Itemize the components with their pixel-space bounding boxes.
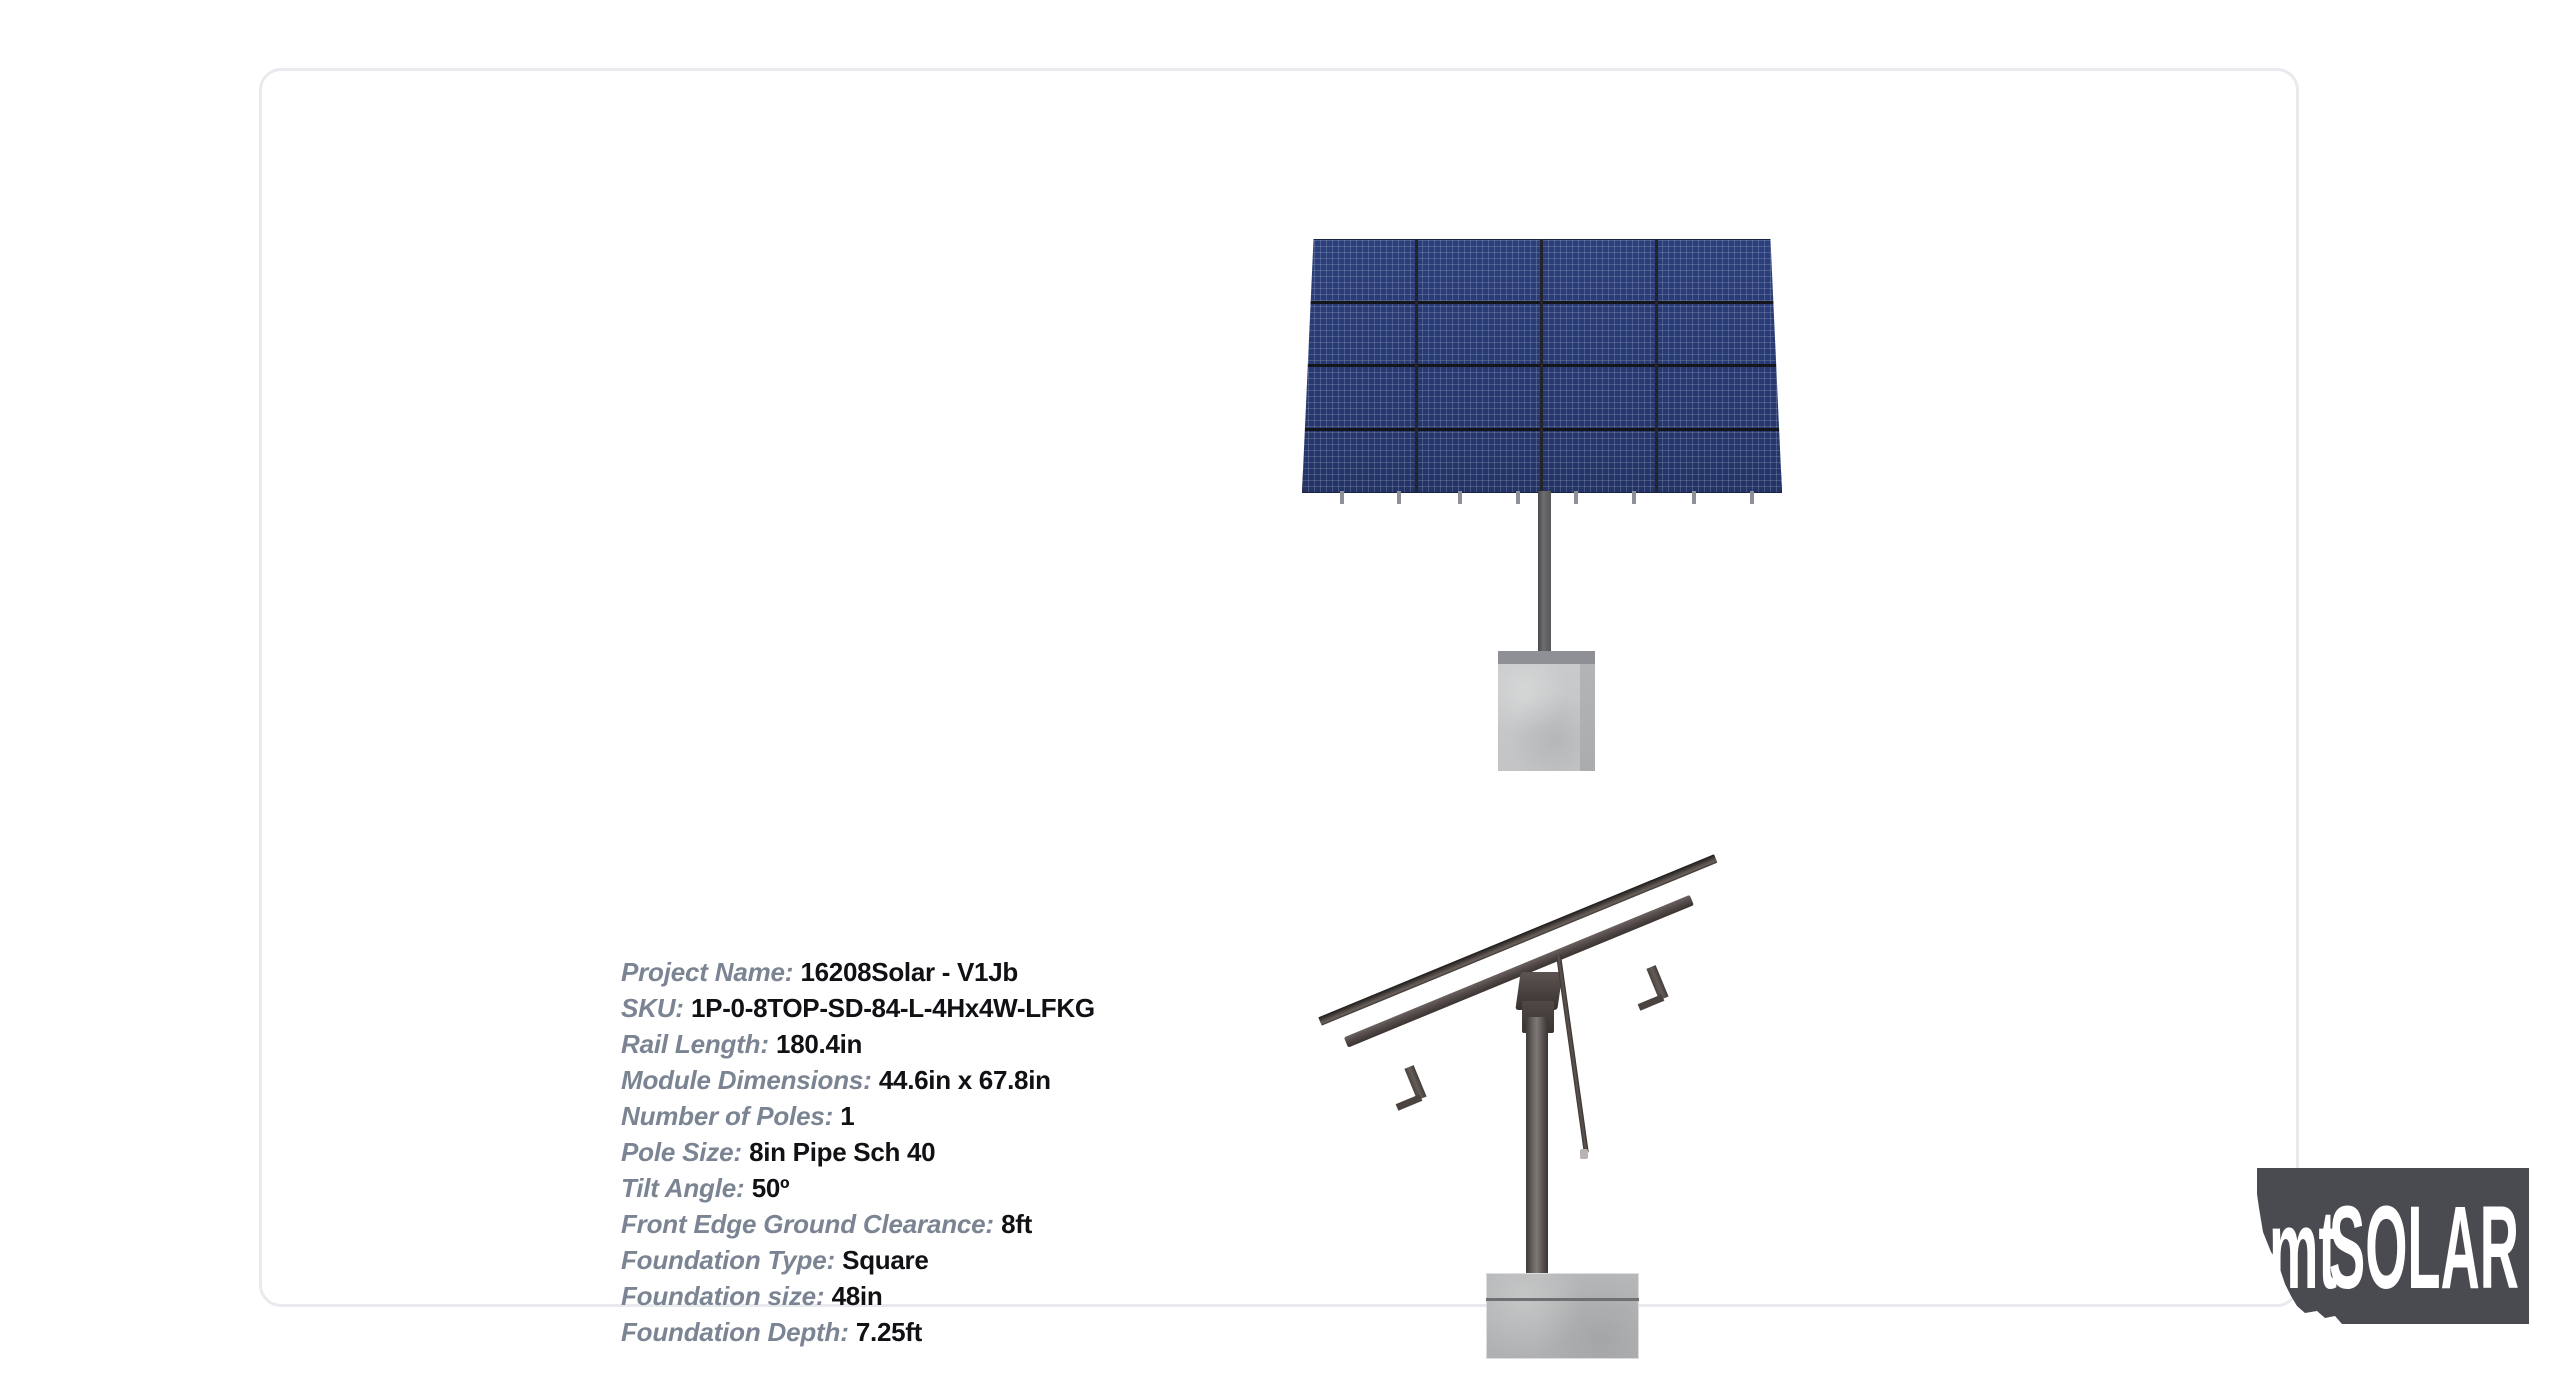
strut-end-cap <box>1580 1149 1588 1159</box>
spec-row-module-dimensions: Module Dimensions: 44.6in x 67.8in <box>621 1062 1521 1098</box>
spec-row-front-edge-ground-clearance: Front Edge Ground Clearance: 8ft <box>621 1206 1521 1242</box>
screenshot-root: Project Name: 16208Solar - V1Jb SKU: 1P-… <box>0 0 2560 1383</box>
spec-value: 7.25ft <box>856 1317 922 1347</box>
logo-solar-text: SOLAR <box>2329 1182 2519 1314</box>
module-divider-vertical <box>1415 239 1418 493</box>
spec-row-pole-size: Pole Size: 8in Pipe Sch 40 <box>621 1134 1521 1170</box>
spec-value: 8ft <box>1001 1209 1032 1239</box>
module-divider-vertical <box>1540 239 1543 493</box>
spec-row-foundation-size: Foundation size: 48in <box>621 1278 1521 1314</box>
panel-module-grid <box>1302 239 1782 493</box>
project-spec-list: Project Name: 16208Solar - V1Jb SKU: 1P-… <box>621 954 1521 1350</box>
module-clip <box>1458 491 1462 504</box>
foundation-side-face <box>1580 664 1595 771</box>
spec-label: Module Dimensions: <box>621 1065 872 1095</box>
module-clip <box>1340 491 1344 504</box>
spec-row-foundation-type: Foundation Type: Square <box>621 1242 1521 1278</box>
spec-value: 50º <box>752 1173 790 1203</box>
logo-tagline-text: MADE IN THE USA <box>2351 1296 2523 1322</box>
solar-array-front-view <box>1282 221 1802 781</box>
spec-value: 1 <box>840 1101 854 1131</box>
spec-label: Tilt Angle: <box>621 1173 744 1203</box>
spec-value: 16208Solar - V1Jb <box>800 957 1017 987</box>
project-summary-card: Project Name: 16208Solar - V1Jb SKU: 1P-… <box>259 68 2299 1307</box>
module-divider-vertical <box>1655 239 1658 493</box>
spec-value: 44.6in x 67.8in <box>879 1065 1051 1095</box>
spec-label: Number of Poles: <box>621 1101 833 1131</box>
spec-value: Square <box>842 1245 928 1275</box>
spec-row-tilt-angle: Tilt Angle: 50º <box>621 1170 1521 1206</box>
spec-label: Front Edge Ground Clearance: <box>621 1209 994 1239</box>
spec-label: Pole Size: <box>621 1137 742 1167</box>
spec-label: Foundation Type: <box>621 1245 835 1275</box>
spec-value: 180.4in <box>776 1029 862 1059</box>
spec-label: Rail Length: <box>621 1029 769 1059</box>
spec-row-foundation-depth: Foundation Depth: 7.25ft <box>621 1314 1521 1350</box>
foundation-front-face <box>1498 664 1580 771</box>
module-clip <box>1516 491 1520 504</box>
rail-bracket-foot <box>1638 994 1665 1010</box>
spec-row-project-name: Project Name: 16208Solar - V1Jb <box>621 954 1521 990</box>
concrete-foundation <box>1498 651 1595 771</box>
module-clip <box>1574 491 1578 504</box>
module-clip <box>1692 491 1696 504</box>
mounting-pole <box>1526 1017 1548 1287</box>
spec-value: 8in Pipe Sch 40 <box>749 1137 935 1167</box>
spec-value: 48in <box>832 1281 883 1311</box>
logo-mt-text: mt <box>2269 1187 2337 1312</box>
spec-value: 1P-0-8TOP-SD-84-L-4Hx4W-LFKG <box>691 993 1095 1023</box>
spec-row-sku: SKU: 1P-0-8TOP-SD-84-L-4Hx4W-LFKG <box>621 990 1521 1026</box>
module-clip <box>1397 491 1401 504</box>
spec-label: Project Name: <box>621 957 793 987</box>
spec-row-rail-length: Rail Length: 180.4in <box>621 1026 1521 1062</box>
spec-label: SKU: <box>621 993 684 1023</box>
module-clip <box>1632 491 1636 504</box>
solar-panel-array <box>1302 239 1782 493</box>
spec-label: Foundation size: <box>621 1281 824 1311</box>
spec-row-number-of-poles: Number of Poles: 1 <box>621 1098 1521 1134</box>
mtsolar-logo: mt SOLAR MADE IN THE USA <box>2247 1156 2537 1341</box>
spec-label: Foundation Depth: <box>621 1317 849 1347</box>
module-clip <box>1750 491 1754 504</box>
tilt-actuator-strut <box>1556 955 1589 1154</box>
